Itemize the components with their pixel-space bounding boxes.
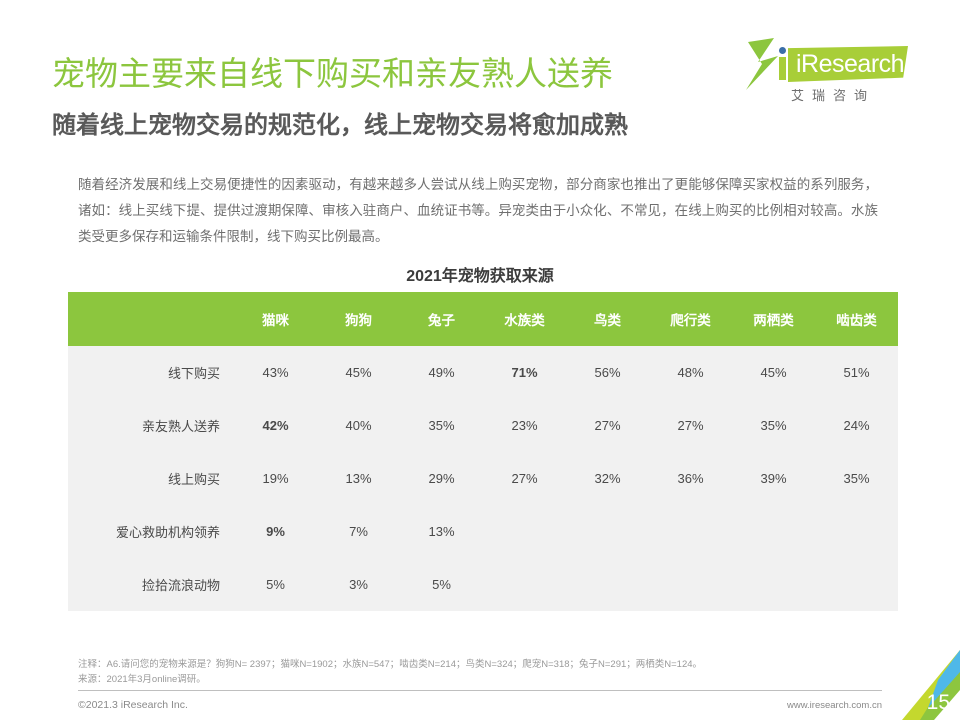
row-label-3: 爱心救助机构领养 xyxy=(68,505,234,558)
copyright-text: ©2021.3 iResearch Inc. xyxy=(78,699,188,711)
note-line: 注释：A6.请问您的宠物来源是？狗狗N= 2397；猫咪N=1902；水族N=5… xyxy=(78,657,878,672)
column-header-0: 猫咪 xyxy=(234,292,317,346)
cell-r2-c2: 29% xyxy=(400,452,483,505)
iresearch-logo: iResearch 艾瑞咨询 xyxy=(778,44,908,106)
cell-r2-c1: 13% xyxy=(317,452,400,505)
logo-mark: iResearch xyxy=(778,44,908,84)
cell-r4-c2: 5% xyxy=(400,558,483,611)
cell-r3-c5 xyxy=(649,505,732,558)
data-table-container: 猫咪狗狗兔子水族类鸟类爬行类两栖类啮齿类 线下购买43%45%49%71%56%… xyxy=(68,292,898,611)
cell-r3-c7 xyxy=(815,505,898,558)
cell-r3-c3 xyxy=(483,505,566,558)
cell-r4-c0: 5% xyxy=(234,558,317,611)
cell-r0-c1: 45% xyxy=(317,346,400,399)
cell-r1-c6: 35% xyxy=(732,399,815,452)
cell-r4-c6 xyxy=(732,558,815,611)
cell-r3-c6 xyxy=(732,505,815,558)
slide-root: { "header": { "title": "宠物主要来自线下购买和亲友熟人送… xyxy=(0,0,960,720)
cell-r2-c7: 35% xyxy=(815,452,898,505)
row-label-4: 捡拾流浪动物 xyxy=(68,558,234,611)
body-paragraph: 随着经济发展和线上交易便捷性的因素驱动，有越来越多人尝试从线上购买宠物，部分商家… xyxy=(78,172,878,250)
logo-wordmark: iResearch xyxy=(796,48,904,80)
cell-r1-c0: 42% xyxy=(234,399,317,452)
row-label-0: 线下购买 xyxy=(68,346,234,399)
page-title: 宠物主要来自线下购买和亲友熟人送养 xyxy=(52,52,613,96)
column-header-rowlabel xyxy=(68,292,234,346)
column-header-2: 兔子 xyxy=(400,292,483,346)
cell-r2-c3: 27% xyxy=(483,452,566,505)
cell-r3-c2: 13% xyxy=(400,505,483,558)
table-row: 线下购买43%45%49%71%56%48%45%51% xyxy=(68,346,898,399)
column-header-5: 爬行类 xyxy=(649,292,732,346)
cell-r0-c2: 49% xyxy=(400,346,483,399)
source-line: 来源：2021年3月online调研。 xyxy=(78,672,878,687)
cell-r0-c6: 45% xyxy=(732,346,815,399)
column-header-4: 鸟类 xyxy=(566,292,649,346)
cell-r1-c1: 40% xyxy=(317,399,400,452)
page-number: 15 xyxy=(927,691,950,715)
table-row: 捡拾流浪动物5%3%5% xyxy=(68,558,898,611)
logo-i-dot-icon xyxy=(779,47,786,54)
cell-r4-c3 xyxy=(483,558,566,611)
table-header: 猫咪狗狗兔子水族类鸟类爬行类两栖类啮齿类 xyxy=(68,292,898,346)
table-header-row: 猫咪狗狗兔子水族类鸟类爬行类两栖类啮齿类 xyxy=(68,292,898,346)
row-label-1: 亲友熟人送养 xyxy=(68,399,234,452)
cell-r1-c2: 35% xyxy=(400,399,483,452)
cell-r4-c1: 3% xyxy=(317,558,400,611)
cell-r4-c7 xyxy=(815,558,898,611)
footer-divider xyxy=(78,690,882,691)
logo-swoosh-icon xyxy=(744,38,784,90)
cell-r0-c4: 56% xyxy=(566,346,649,399)
table-body: 线下购买43%45%49%71%56%48%45%51%亲友熟人送养42%40%… xyxy=(68,346,898,611)
corner-decoration: 15 xyxy=(894,650,960,720)
table-row: 线上购买19%13%29%27%32%36%39%35% xyxy=(68,452,898,505)
cell-r4-c5 xyxy=(649,558,732,611)
cell-r2-c0: 19% xyxy=(234,452,317,505)
cell-r0-c5: 48% xyxy=(649,346,732,399)
row-label-2: 线上购买 xyxy=(68,452,234,505)
cell-r2-c4: 32% xyxy=(566,452,649,505)
cell-r4-c4 xyxy=(566,558,649,611)
logo-i-stem xyxy=(779,57,786,80)
page-subtitle: 随着线上宠物交易的规范化，线上宠物交易将愈加成熟 xyxy=(52,110,628,142)
table-row: 亲友熟人送养42%40%35%23%27%27%35%24% xyxy=(68,399,898,452)
pet-source-table: 猫咪狗狗兔子水族类鸟类爬行类两栖类啮齿类 线下购买43%45%49%71%56%… xyxy=(68,292,898,611)
footnotes: 注释：A6.请问您的宠物来源是？狗狗N= 2397；猫咪N=1902；水族N=5… xyxy=(78,657,878,687)
cell-r2-c6: 39% xyxy=(732,452,815,505)
cell-r3-c0: 9% xyxy=(234,505,317,558)
cell-r0-c3: 71% xyxy=(483,346,566,399)
cell-r3-c4 xyxy=(566,505,649,558)
cell-r3-c1: 7% xyxy=(317,505,400,558)
cell-r1-c3: 23% xyxy=(483,399,566,452)
cell-r1-c5: 27% xyxy=(649,399,732,452)
cell-r0-c0: 43% xyxy=(234,346,317,399)
cell-r1-c4: 27% xyxy=(566,399,649,452)
column-header-7: 啮齿类 xyxy=(815,292,898,346)
logo-chinese-name: 艾瑞咨询 xyxy=(791,85,875,104)
column-header-1: 狗狗 xyxy=(317,292,400,346)
website-url: www.iresearch.com.cn xyxy=(787,700,882,711)
cell-r1-c7: 24% xyxy=(815,399,898,452)
column-header-6: 两栖类 xyxy=(732,292,815,346)
cell-r2-c5: 36% xyxy=(649,452,732,505)
column-header-3: 水族类 xyxy=(483,292,566,346)
chart-title: 2021年宠物获取来源 xyxy=(0,262,960,286)
table-row: 爱心救助机构领养9%7%13% xyxy=(68,505,898,558)
cell-r0-c7: 51% xyxy=(815,346,898,399)
